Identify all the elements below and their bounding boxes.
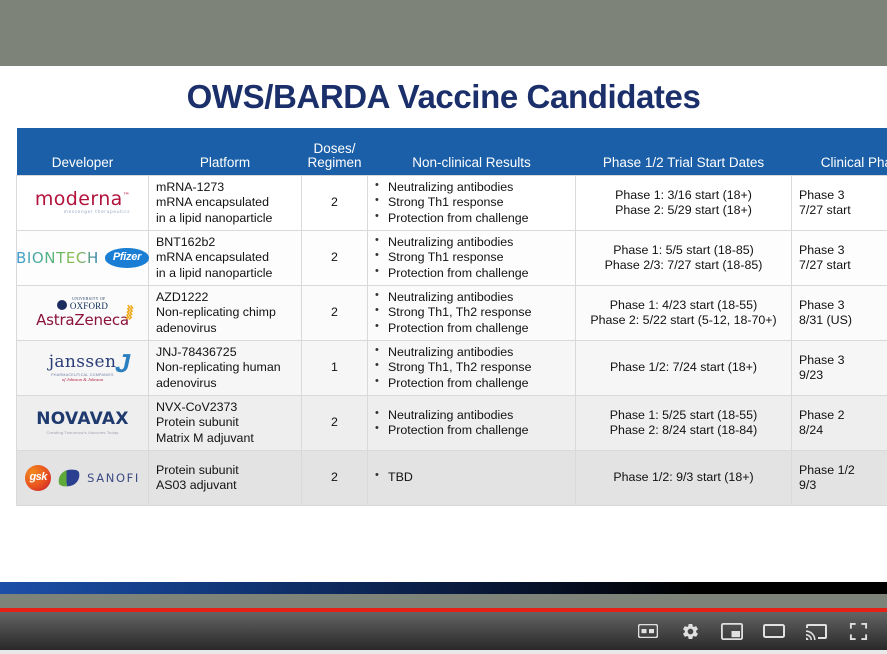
doses-cell: 2 xyxy=(302,396,368,451)
platform-line: Non-replicating chimp xyxy=(156,305,294,320)
nonclinical-results-cell: Neutralizing antibodies Strong Th1 respo… xyxy=(368,231,576,286)
platform-line: JNJ-78436725 xyxy=(156,345,294,360)
clinical-phase-line: 7/27 start xyxy=(799,258,887,273)
nonclinical-results-cell: Neutralizing antibodies Strong Th1 respo… xyxy=(368,176,576,231)
browser-edge xyxy=(0,650,887,654)
table-row: gsk SANOFI Protein subunit AS03 adjuvant… xyxy=(17,451,887,506)
table-row: UNIVERSITY OF OXFORD AstraZeneca ⧚ AZD12… xyxy=(17,286,887,341)
trial-dates-cell: Phase 1: 4/23 start (18-55) Phase 2: 5/2… xyxy=(576,286,792,341)
video-player-viewport: OWS/BARDA Vaccine Candidates Developer P… xyxy=(0,0,887,654)
video-progress-filled xyxy=(0,608,887,612)
clinical-phase-cell: Phase 1/2 9/3 xyxy=(792,451,887,506)
result-bullet: Neutralizing antibodies xyxy=(375,408,568,423)
developer-cell: BIONTECH Pfizer xyxy=(17,231,149,286)
pfizer-wordmark: Pfizer xyxy=(105,248,149,267)
presentation-slide: OWS/BARDA Vaccine Candidates Developer P… xyxy=(0,66,887,594)
clinical-phase-line: 9/23 xyxy=(799,368,887,383)
column-header-nonclinical-results: Non-clinical Results xyxy=(368,128,576,176)
column-header-developer: Developer xyxy=(17,128,149,176)
johnson-johnson-wordmark: of Johnson & Johnson xyxy=(49,378,117,383)
letterbox-top xyxy=(0,0,887,66)
oxford-crest-icon xyxy=(57,300,67,310)
platform-line: adenovirus xyxy=(156,321,294,336)
platform-line: in a lipid nanoparticle xyxy=(156,211,294,226)
page-title: OWS/BARDA Vaccine Candidates xyxy=(0,78,887,116)
clinical-phase-line: Phase 2 xyxy=(799,408,887,423)
developer-cell: NOVAVAX Creating Tomorrow's Vaccines Tod… xyxy=(17,396,149,451)
cast-icon[interactable] xyxy=(803,618,829,644)
platform-line: Non-replicating human xyxy=(156,360,294,375)
biontech-pfizer-logo: BIONTECH Pfizer xyxy=(24,235,141,281)
novavax-wordmark: NOVAVAX xyxy=(36,409,129,429)
janssen-logo: janssen J PHARMACEUTICAL COMPANIES of Jo… xyxy=(24,345,141,391)
table-row: moderna™ messenger therapeutics mRNA-127… xyxy=(17,176,887,231)
sanofi-wordmark: SANOFI xyxy=(87,471,140,485)
trial-date-line: Phase 1: 3/16 start (18+) xyxy=(583,188,784,203)
result-bullet: Protection from challenge xyxy=(375,423,568,438)
trial-date-line: Phase 1: 5/25 start (18-55) xyxy=(583,408,784,423)
platform-cell: JNJ-78436725 Non-replicating human adeno… xyxy=(149,341,302,396)
trial-date-line: Phase 1: 4/23 start (18-55) xyxy=(583,298,784,313)
result-bullet: Strong Th1 response xyxy=(375,250,568,265)
trial-dates-cell: Phase 1: 3/16 start (18+) Phase 2: 5/29 … xyxy=(576,176,792,231)
trial-dates-cell: Phase 1/2: 9/3 start (18+) xyxy=(576,451,792,506)
platform-line: mRNA encapsulated xyxy=(156,250,294,265)
oxford-wordmark: UNIVERSITY OF OXFORD xyxy=(70,298,108,311)
platform-cell: Protein subunit AS03 adjuvant xyxy=(149,451,302,506)
trial-dates-cell: Phase 1: 5/5 start (18-85) Phase 2/3: 7/… xyxy=(576,231,792,286)
nonclinical-results-cell: Neutralizing antibodies Protection from … xyxy=(368,396,576,451)
oxford-astrazeneca-logo: UNIVERSITY OF OXFORD AstraZeneca ⧚ xyxy=(24,290,141,336)
doses-cell: 1 xyxy=(302,341,368,396)
platform-line: mRNA encapsulated xyxy=(156,195,294,210)
result-bullet: Strong Th1 response xyxy=(375,195,568,210)
clinical-phase-line: Phase 3 xyxy=(799,188,887,203)
platform-line: in a lipid nanoparticle xyxy=(156,266,294,281)
result-bullet: Protection from challenge xyxy=(375,211,568,226)
fullscreen-icon[interactable] xyxy=(845,618,871,644)
trial-date-line: Phase 2: 5/22 start (5-12, 18-70+) xyxy=(583,313,784,328)
clinical-phase-line: 9/3 xyxy=(799,478,887,493)
doses-cell: 2 xyxy=(302,286,368,341)
doses-cell: 2 xyxy=(302,451,368,506)
result-bullet: Protection from challenge xyxy=(375,376,568,391)
table-header-row: Developer Platform Doses/ Regimen Non-cl… xyxy=(17,128,887,176)
platform-line: NVX-CoV2373 xyxy=(156,400,294,415)
gsk-wordmark: gsk xyxy=(25,465,51,491)
letterbox-bottom xyxy=(0,594,887,608)
result-bullet: Neutralizing antibodies xyxy=(375,235,568,250)
result-bullet: Strong Th1, Th2 response xyxy=(375,305,568,320)
platform-cell: mRNA-1273 mRNA encapsulated in a lipid n… xyxy=(149,176,302,231)
trademark-mark: ™ xyxy=(123,192,130,200)
astrazeneca-wordmark: AstraZeneca xyxy=(36,311,129,329)
nonclinical-results-cell: Neutralizing antibodies Strong Th1, Th2 … xyxy=(368,286,576,341)
video-progress-bar[interactable] xyxy=(0,608,887,612)
clinical-phase-cell: Phase 3 7/27 start xyxy=(792,176,887,231)
table-row: janssen J PHARMACEUTICAL COMPANIES of Jo… xyxy=(17,341,887,396)
platform-line: AS03 adjuvant xyxy=(156,478,294,493)
trial-date-line: Phase 1: 5/5 start (18-85) xyxy=(583,243,784,258)
doses-cell: 2 xyxy=(302,176,368,231)
biontech-wordmark: BIONTECH xyxy=(16,249,99,267)
moderna-tagline: messenger therapeutics xyxy=(35,211,130,215)
doses-cell: 2 xyxy=(302,231,368,286)
clinical-phase-line: Phase 3 xyxy=(799,243,887,258)
developer-cell: gsk SANOFI xyxy=(17,451,149,506)
platform-line: BNT162b2 xyxy=(156,235,294,250)
sanofi-leaf-icon xyxy=(57,468,82,488)
clinical-phase-line: Phase 1/2 xyxy=(799,463,887,478)
developer-cell: janssen J PHARMACEUTICAL COMPANIES of Jo… xyxy=(17,341,149,396)
clinical-phase-cell: Phase 3 8/31 (US) xyxy=(792,286,887,341)
table-row: BIONTECH Pfizer BNT162b2 mRNA encapsulat… xyxy=(17,231,887,286)
clinical-phase-cell: Phase 3 9/23 xyxy=(792,341,887,396)
platform-cell: BNT162b2 mRNA encapsulated in a lipid na… xyxy=(149,231,302,286)
trial-date-line: Phase 2/3: 7/27 start (18-85) xyxy=(583,258,784,273)
theater-mode-icon[interactable] xyxy=(761,618,787,644)
column-header-platform: Platform xyxy=(149,128,302,176)
nonclinical-results-cell: TBD xyxy=(368,451,576,506)
trial-dates-cell: Phase 1/2: 7/24 start (18+) xyxy=(576,341,792,396)
nonclinical-results-cell: Neutralizing antibodies Strong Th1, Th2 … xyxy=(368,341,576,396)
doses-header-line1: Doses/ xyxy=(306,142,364,157)
clinical-phase-cell: Phase 3 7/27 start xyxy=(792,231,887,286)
developer-cell: moderna™ messenger therapeutics xyxy=(17,176,149,231)
result-bullet: Neutralizing antibodies xyxy=(375,345,568,360)
result-bullet: TBD xyxy=(375,470,568,485)
doses-header-line2: Regimen xyxy=(306,156,364,171)
platform-cell: NVX-CoV2373 Protein subunit Matrix M adj… xyxy=(149,396,302,451)
column-header-clinical-phase: Clinical Phase xyxy=(792,128,887,176)
gsk-sanofi-logo: gsk SANOFI xyxy=(24,455,141,501)
trial-date-line: Phase 1/2: 9/3 start (18+) xyxy=(583,470,784,485)
trial-date-line: Phase 1/2: 7/24 start (18+) xyxy=(583,360,784,375)
miniplayer-icon[interactable] xyxy=(719,618,745,644)
clinical-phase-line: Phase 3 xyxy=(799,298,887,313)
player-controls-right xyxy=(635,618,871,644)
clinical-phase-cell: Phase 2 8/24 xyxy=(792,396,887,451)
developer-cell: UNIVERSITY OF OXFORD AstraZeneca ⧚ xyxy=(17,286,149,341)
result-bullet: Protection from challenge xyxy=(375,321,568,336)
platform-line: Protein subunit xyxy=(156,463,294,478)
result-bullet: Neutralizing antibodies xyxy=(375,180,568,195)
platform-line: mRNA-1273 xyxy=(156,180,294,195)
captions-icon[interactable] xyxy=(635,618,661,644)
clinical-phase-line: 7/27 start xyxy=(799,203,887,218)
clinical-phase-line: 8/24 xyxy=(799,423,887,438)
moderna-wordmark: moderna xyxy=(35,188,123,210)
settings-gear-icon[interactable] xyxy=(677,618,703,644)
vaccine-candidates-table: Developer Platform Doses/ Regimen Non-cl… xyxy=(16,128,887,506)
platform-line: Protein subunit xyxy=(156,415,294,430)
astrazeneca-swirl-icon: ⧚ xyxy=(125,303,135,324)
trial-date-line: Phase 2: 8/24 start (18-84) xyxy=(583,423,784,438)
result-bullet: Neutralizing antibodies xyxy=(375,290,568,305)
result-bullet: Protection from challenge xyxy=(375,266,568,281)
result-bullet: Strong Th1, Th2 response xyxy=(375,360,568,375)
novavax-logo: NOVAVAX Creating Tomorrow's Vaccines Tod… xyxy=(24,400,141,446)
column-header-doses-regimen: Doses/ Regimen xyxy=(302,128,368,176)
moderna-logo: moderna™ messenger therapeutics xyxy=(24,180,141,226)
platform-line: adenovirus xyxy=(156,376,294,391)
clinical-phase-line: 8/31 (US) xyxy=(799,313,887,328)
platform-line: AZD1222 xyxy=(156,290,294,305)
clinical-phase-line: Phase 3 xyxy=(799,353,887,368)
novavax-tagline: Creating Tomorrow's Vaccines Today xyxy=(36,431,129,435)
table-row: NOVAVAX Creating Tomorrow's Vaccines Tod… xyxy=(17,396,887,451)
platform-line: Matrix M adjuvant xyxy=(156,431,294,446)
janssen-wordmark: janssen xyxy=(49,352,117,372)
platform-cell: AZD1222 Non-replicating chimp adenovirus xyxy=(149,286,302,341)
trial-date-line: Phase 2: 5/29 start (18+) xyxy=(583,203,784,218)
column-header-trial-start-dates: Phase 1/2 Trial Start Dates xyxy=(576,128,792,176)
trial-dates-cell: Phase 1: 5/25 start (18-55) Phase 2: 8/2… xyxy=(576,396,792,451)
